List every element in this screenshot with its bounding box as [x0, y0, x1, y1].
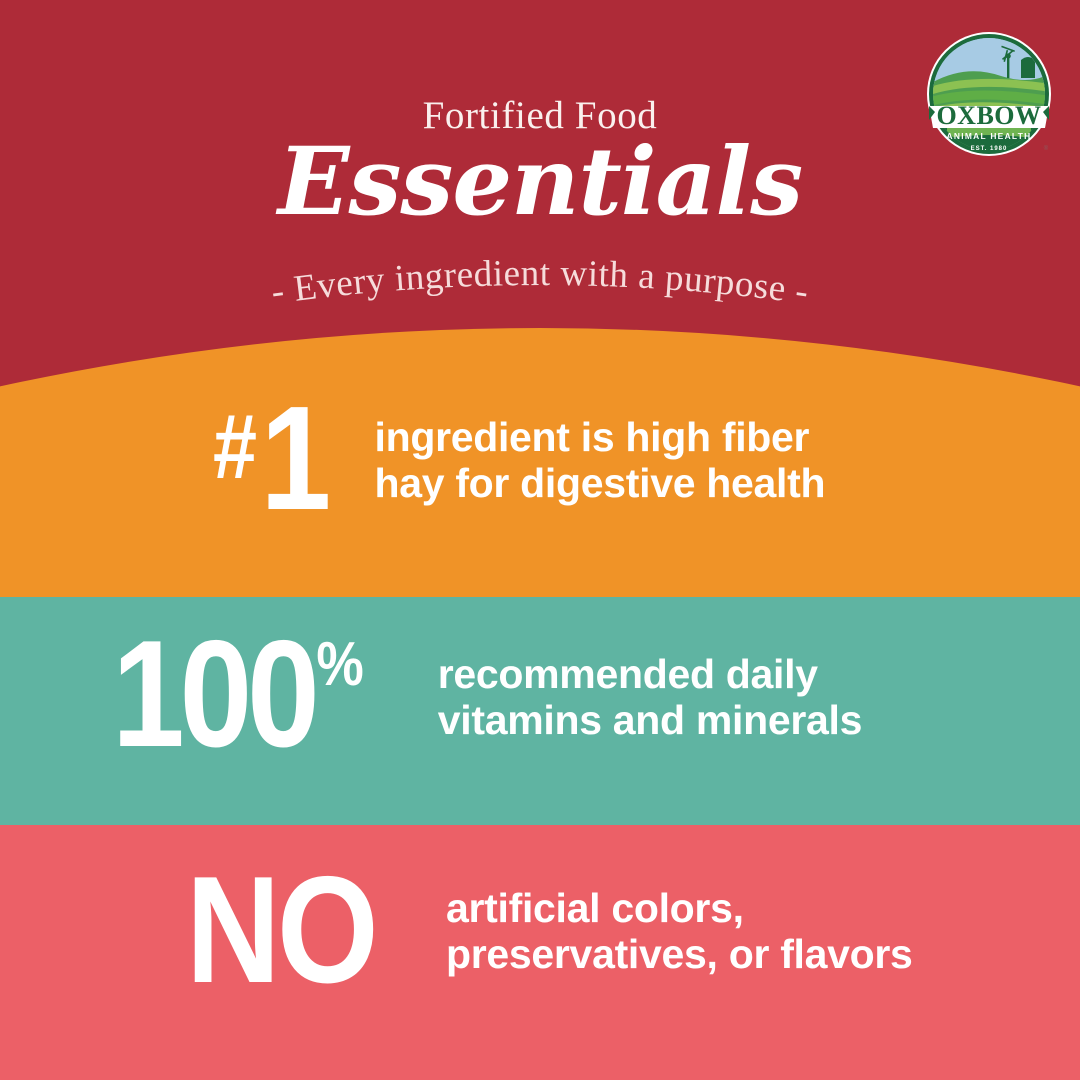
stat-figure-value: 1 — [260, 398, 327, 519]
stat-figure: # 1 — [213, 398, 328, 519]
stat-figure: 100 % — [112, 632, 363, 757]
stat-row-high-fiber-hay: # 1 ingredient is high fiber hay for dig… — [213, 398, 825, 519]
svg-text:- Every ingredient with a purp: - Every ingredient with a purpose - — [269, 253, 811, 313]
stat-figure-value: 100 — [112, 632, 315, 757]
arc-tagline: - Every ingredient with a purpose - — [0, 232, 1080, 342]
stat-copy: ingredient is high fiber hay for digesti… — [374, 415, 825, 507]
stat-figure: NO — [186, 868, 375, 993]
stat-copy: recommended daily vitamins and minerals — [438, 652, 862, 744]
fortified-food-essentials-poster: Fortified Food Essentials - Every ingred… — [0, 0, 1080, 1080]
logo-established-text: EST. 1980 — [971, 146, 1008, 152]
logo-division-text: ANIMAL HEALTH — [947, 131, 1032, 141]
stat-figure-prefix: # — [213, 410, 255, 485]
arc-tagline-text: - Every ingredient with a purpose - — [269, 253, 811, 313]
oxbow-logo[interactable]: OXBOW ANIMAL HEALTH EST. 1980 ® — [921, 26, 1057, 162]
logo-trademark-symbol: ® — [1044, 145, 1049, 152]
logo-barn-icon — [1021, 57, 1035, 78]
stat-copy: artificial colors, preservatives, or fla… — [446, 886, 913, 978]
page-title: Essentials — [0, 133, 1080, 232]
stat-figure-suffix: % — [316, 640, 363, 691]
stat-row-vitamins-minerals: 100 % recommended daily vitamins and min… — [112, 632, 862, 757]
stat-row-no-artificial: NO artificial colors, preservatives, or … — [186, 868, 913, 993]
logo-brand-text: OXBOW — [936, 101, 1041, 130]
poster-header: Fortified Food Essentials - Every ingred… — [0, 0, 1080, 310]
stat-figure-value: NO — [186, 868, 375, 993]
